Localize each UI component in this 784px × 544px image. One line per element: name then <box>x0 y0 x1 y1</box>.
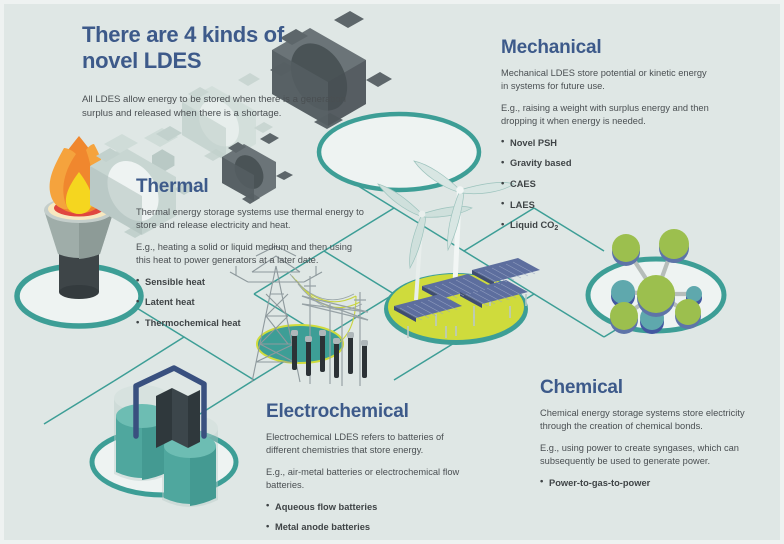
electrochemical-para-1: Electrochemical LDES refers to batteries… <box>266 431 466 457</box>
page-title-line2: novel LDES <box>82 48 201 73</box>
thermal-heading: Thermal <box>136 175 364 198</box>
list-item: LAES <box>501 199 716 212</box>
page-subtitle: All LDES allow energy to be stored when … <box>82 93 352 122</box>
list-item-label: Liquid CO <box>510 220 554 230</box>
mechanical-heading: Mechanical <box>501 36 716 59</box>
list-item: Sensible heat <box>136 276 364 289</box>
molecule-icon <box>588 229 724 334</box>
chemical-para-2: E.g., using power to create syngases, wh… <box>540 442 755 468</box>
mechanical-para-2: E.g., raising a weight with surplus ener… <box>501 102 716 128</box>
thermal-para-1: Thermal energy storage systems use therm… <box>136 206 364 232</box>
section-mechanical: Mechanical Mechanical LDES store potenti… <box>501 36 716 242</box>
thermal-para-2: E.g., heating a solid or liquid medium a… <box>136 241 364 267</box>
electrochemical-heading: Electrochemical <box>266 400 466 423</box>
title-block: There are 4 kinds of novel LDES All LDES… <box>82 22 352 122</box>
list-item: Latent heat <box>136 296 364 309</box>
chemical-para-1: Chemical energy storage systems store el… <box>540 407 755 433</box>
list-item: Aqueous flow batteries <box>266 501 466 514</box>
page-title-line1: There are 4 kinds of <box>82 22 284 47</box>
infographic-page: There are 4 kinds of novel LDES All LDES… <box>0 0 784 544</box>
mechanical-para-1: Mechanical LDES store potential or kinet… <box>501 67 716 93</box>
list-item: Novel PSH <box>501 137 716 150</box>
list-item: Gravity based <box>501 157 716 170</box>
chemical-heading: Chemical <box>540 376 755 399</box>
list-item: Thermochemical heat <box>136 317 364 330</box>
section-electrochemical: Electrochemical Electrochemical LDES ref… <box>266 400 466 544</box>
list-item: Metal anode batteries <box>266 521 466 534</box>
section-chemical: Chemical Chemical energy storage systems… <box>540 376 755 497</box>
electrochemical-bullet-list: Aqueous flow batteries Metal anode batte… <box>266 501 466 544</box>
chemical-bullet-list: Power-to-gas-to-power <box>540 477 755 490</box>
mechanical-bullet-list: Novel PSH Gravity based CAES LAES Liquid… <box>501 137 716 234</box>
list-item: CAES <box>501 178 716 191</box>
list-item: Liquid CO2 <box>501 219 716 233</box>
list-item-subscript: 2 <box>554 225 558 232</box>
thermal-bullet-list: Sensible heat Latent heat Thermochemical… <box>136 276 364 330</box>
page-title: There are 4 kinds of novel LDES <box>82 22 352 75</box>
electrochemical-para-2: E.g., air-metal batteries or electrochem… <box>266 466 466 492</box>
section-thermal: Thermal Thermal energy storage systems u… <box>136 175 364 338</box>
list-item: Power-to-gas-to-power <box>540 477 755 490</box>
flow-battery-tanks-icon <box>92 368 236 507</box>
